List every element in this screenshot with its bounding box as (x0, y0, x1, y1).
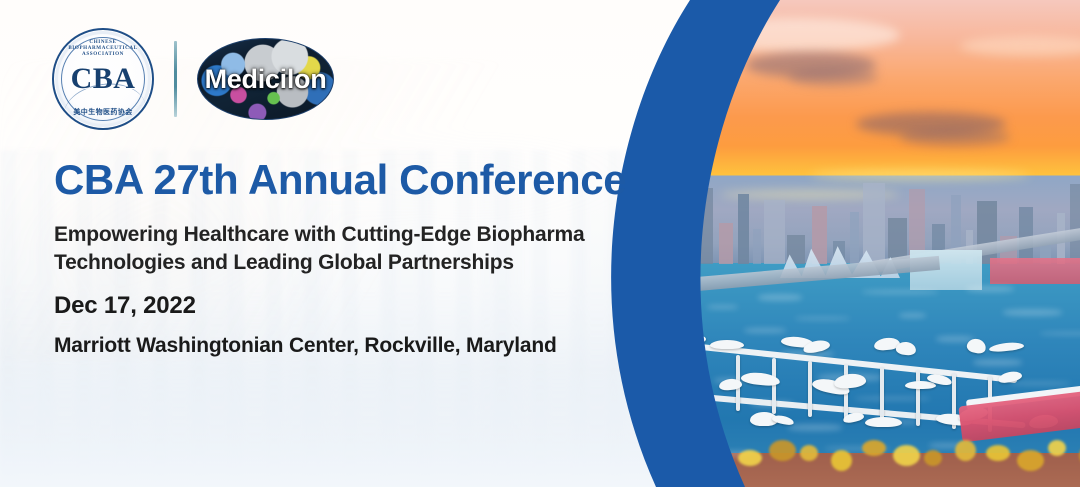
event-venue: Marriott Washingtonian Center, Rockville… (54, 334, 557, 358)
building (696, 188, 713, 264)
conference-banner: CHINESE BIOPHARMACEUTICAL ASSOCIATION CB… (0, 0, 1080, 487)
cloud (900, 128, 1010, 146)
building (1070, 184, 1080, 264)
tree (862, 440, 886, 456)
cloud (960, 36, 1080, 56)
boat (966, 337, 987, 355)
cloud (788, 68, 878, 86)
banner-subtitle: Empowering Healthcare with Cutting-Edge … (54, 221, 634, 277)
building (850, 212, 859, 264)
water-glint (744, 328, 786, 333)
building (719, 223, 733, 264)
logo-divider (174, 41, 177, 117)
building (764, 200, 785, 264)
pier (808, 361, 812, 417)
boat (989, 341, 1025, 353)
medicilon-logo: Medicilon (197, 38, 334, 120)
tree (955, 440, 976, 461)
tree (1048, 440, 1066, 456)
tree (831, 450, 852, 471)
boat (865, 417, 902, 427)
water-glint (1040, 332, 1080, 335)
water-glint (707, 305, 738, 309)
tree (924, 450, 942, 466)
building (738, 194, 749, 264)
page-title: CBA 27th Annual Conference (54, 157, 654, 203)
water-glint (862, 290, 938, 294)
boat (895, 341, 916, 356)
boat (710, 340, 744, 349)
pier (916, 370, 920, 426)
water-glint (1010, 382, 1070, 385)
water-glint (899, 313, 926, 318)
logo-row: CHINESE BIOPHARMACEUTICAL ASSOCIATION CB… (52, 28, 334, 130)
tree (893, 445, 920, 466)
boat (771, 414, 794, 426)
cba-letters: CBA (71, 64, 136, 94)
tree (986, 445, 1010, 461)
tree (769, 440, 796, 461)
red-waterfront-building (990, 258, 1080, 284)
water-glint (973, 359, 1022, 366)
cba-association-text: CHINESE BIOPHARMACEUTICAL ASSOCIATION (54, 39, 152, 57)
event-date: Dec 17, 2022 (54, 292, 196, 320)
water-glint (788, 424, 842, 431)
water-glint (758, 294, 802, 301)
water-glint (966, 286, 1014, 292)
building (753, 229, 761, 264)
tree (1017, 450, 1044, 471)
water-glint (795, 317, 850, 320)
pier (880, 367, 884, 423)
banner-content: CHINESE BIOPHARMACEUTICAL ASSOCIATION CB… (0, 0, 680, 487)
tree (800, 445, 818, 461)
medicilon-wordmark: Medicilon (205, 64, 327, 95)
pier (772, 358, 776, 414)
cba-logo: CHINESE BIOPHARMACEUTICAL ASSOCIATION CB… (52, 28, 154, 130)
tree (738, 450, 762, 466)
water-glint (1003, 309, 1062, 316)
